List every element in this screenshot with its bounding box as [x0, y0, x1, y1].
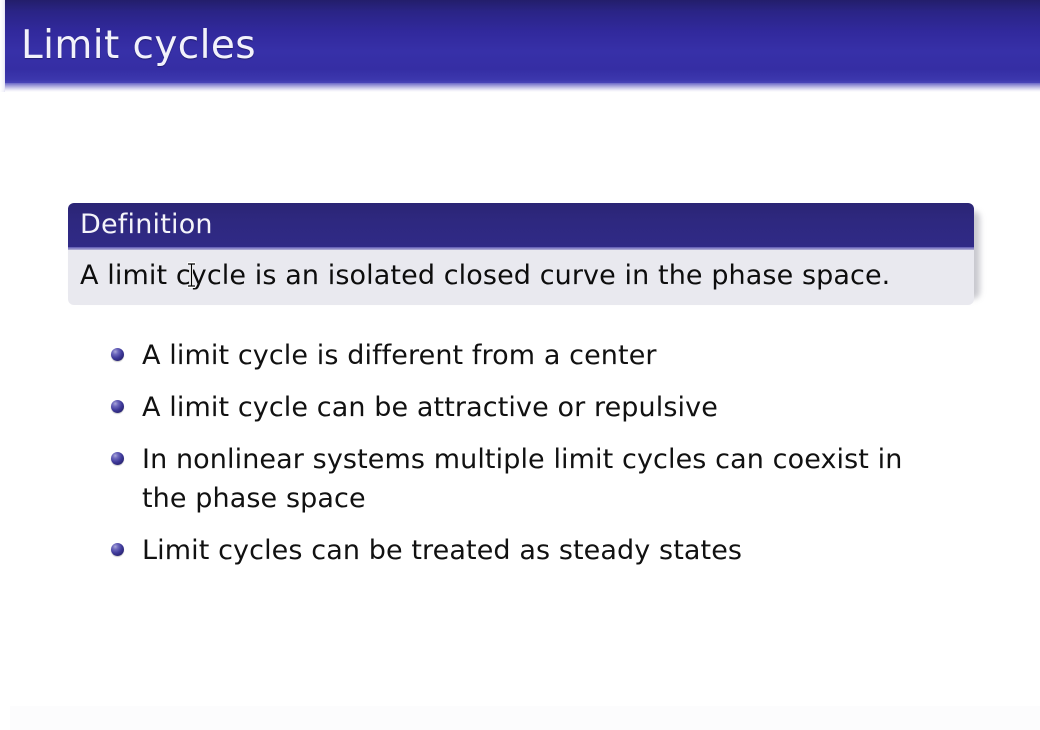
list-item: Limit cycles can be treated as steady st… [111, 531, 971, 570]
definition-block-body: A limit cycle is an isolated closed curv… [68, 250, 974, 305]
list-item-label: Limit cycles can be treated as steady st… [142, 531, 742, 570]
definition-block: Definition A limit cycle is an isolated … [68, 203, 974, 305]
bullet-dot-icon [111, 452, 124, 465]
bullet-list: A limit cycle is different from a center… [111, 336, 971, 583]
list-item-label: In nonlinear systems multiple limit cycl… [142, 440, 942, 518]
list-item: A limit cycle is different from a center [111, 336, 971, 375]
definition-block-text: A limit cycle is an isolated closed curv… [80, 260, 890, 291]
page-title: Limit cycles [21, 25, 256, 68]
list-item-label: A limit cycle is different from a center [142, 336, 657, 375]
footer-strip [10, 706, 1040, 730]
bullet-dot-icon [111, 543, 124, 556]
list-item-label: A limit cycle can be attractive or repul… [142, 388, 718, 427]
definition-block-title: Definition [80, 209, 213, 240]
bullet-dot-icon [111, 400, 124, 413]
header-left-edge [0, 0, 5, 92]
list-item: In nonlinear systems multiple limit cycl… [111, 440, 971, 518]
presentation-slide: Limit cycles Definition A limit cycle is… [0, 0, 1040, 730]
definition-block-header: Definition [68, 203, 974, 247]
list-item: A limit cycle can be attractive or repul… [111, 388, 971, 427]
header-fade-band [4, 83, 1040, 92]
bullet-dot-icon [111, 348, 124, 361]
slide-header: Limit cycles [0, 0, 1040, 92]
